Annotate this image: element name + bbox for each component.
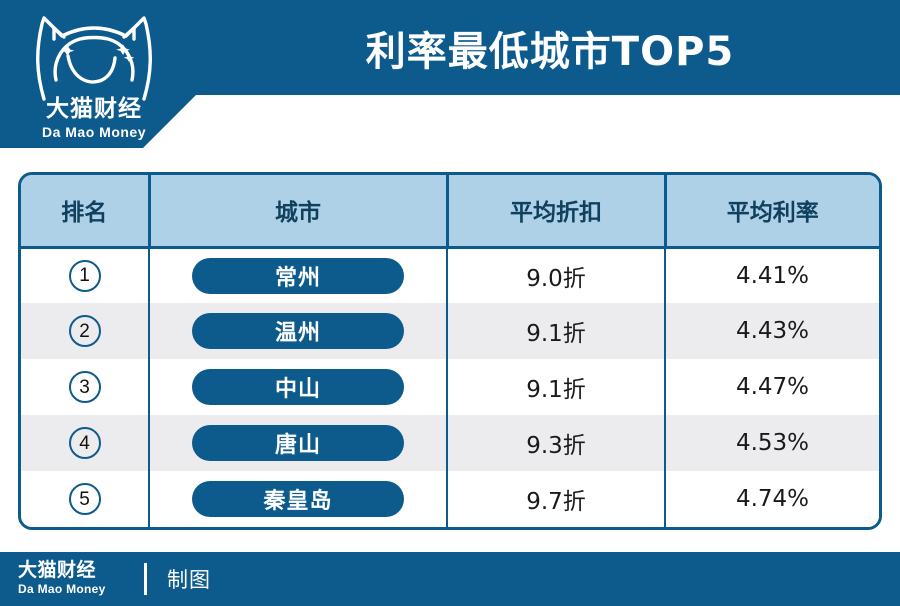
table-row: 1 常州 9.0折 4.41% [21,247,879,303]
table-body: 1 常州 9.0折 4.41% 2 温州 9.1折 4.4 [21,247,879,527]
city-pill: 秦皇岛 [192,481,404,517]
cell-rank: 5 [21,471,149,527]
table-header-row: 排名 城市 平均折扣 平均利率 [21,175,879,247]
table-header: 排名 城市 平均折扣 平均利率 [21,175,879,247]
cell-discount: 9.3折 [447,415,665,471]
infographic-page: 大猫财经 Da Mao Money 利率最低城市TOP5 排名 城市 平均折扣 … [0,0,900,606]
cell-city: 中山 [149,359,447,415]
cell-rate: 4.74% [665,471,879,527]
page-title: 利率最低城市TOP5 [200,0,900,95]
cell-rank: 3 [21,359,149,415]
sparkle-eye-icon [61,45,135,62]
city-pill: 常州 [192,258,404,294]
ranking-table: 排名 城市 平均折扣 平均利率 1 常州 9.0折 4.41% [21,175,879,527]
footer-note: 制图 [167,564,211,594]
cell-rate: 4.47% [665,359,879,415]
ranking-table-container: 排名 城市 平均折扣 平均利率 1 常州 9.0折 4.41% [18,172,882,530]
city-pill: 温州 [192,313,404,349]
cell-discount: 9.0折 [447,247,665,303]
cell-rank: 1 [21,247,149,303]
cell-city: 温州 [149,303,447,359]
cell-city: 秦皇岛 [149,471,447,527]
cell-discount: 9.7折 [447,471,665,527]
column-header-rank: 排名 [21,175,149,247]
rank-badge: 5 [69,483,101,515]
footer-brand: 大猫财经 Da Mao Money [18,559,130,599]
cell-rate: 4.53% [665,415,879,471]
brand-name-cn: 大猫财经 [18,98,170,121]
cell-rate: 4.41% [665,247,879,303]
footer-brand-name-en: Da Mao Money [18,583,106,595]
brand-logo: 大猫财经 Da Mao Money [18,6,170,146]
cell-discount: 9.1折 [447,303,665,359]
table-row: 3 中山 9.1折 4.47% [21,359,879,415]
column-header-discount: 平均折扣 [447,175,665,247]
footer-divider [144,563,147,595]
table-row: 4 唐山 9.3折 4.53% [21,415,879,471]
rank-badge: 1 [69,260,101,292]
column-header-city: 城市 [149,175,447,247]
city-pill: 中山 [192,369,404,405]
cell-rank: 4 [21,415,149,471]
rank-badge: 2 [69,315,101,347]
footer-brand-name-cn: 大猫财经 [18,561,96,580]
column-header-rate: 平均利率 [665,175,879,247]
table-row: 5 秦皇岛 9.7折 4.74% [21,471,879,527]
cell-discount: 9.1折 [447,359,665,415]
cell-rank: 2 [21,303,149,359]
footer-bar: 大猫财经 Da Mao Money 制图 [0,552,900,606]
cell-rate: 4.43% [665,303,879,359]
city-pill: 唐山 [192,425,404,461]
cat-face-logo-icon [18,6,170,101]
rank-badge: 4 [69,427,101,459]
cell-city: 常州 [149,247,447,303]
brand-name-en: Da Mao Money [18,125,170,139]
rank-badge: 3 [69,371,101,403]
cell-city: 唐山 [149,415,447,471]
table-row: 2 温州 9.1折 4.43% [21,303,879,359]
